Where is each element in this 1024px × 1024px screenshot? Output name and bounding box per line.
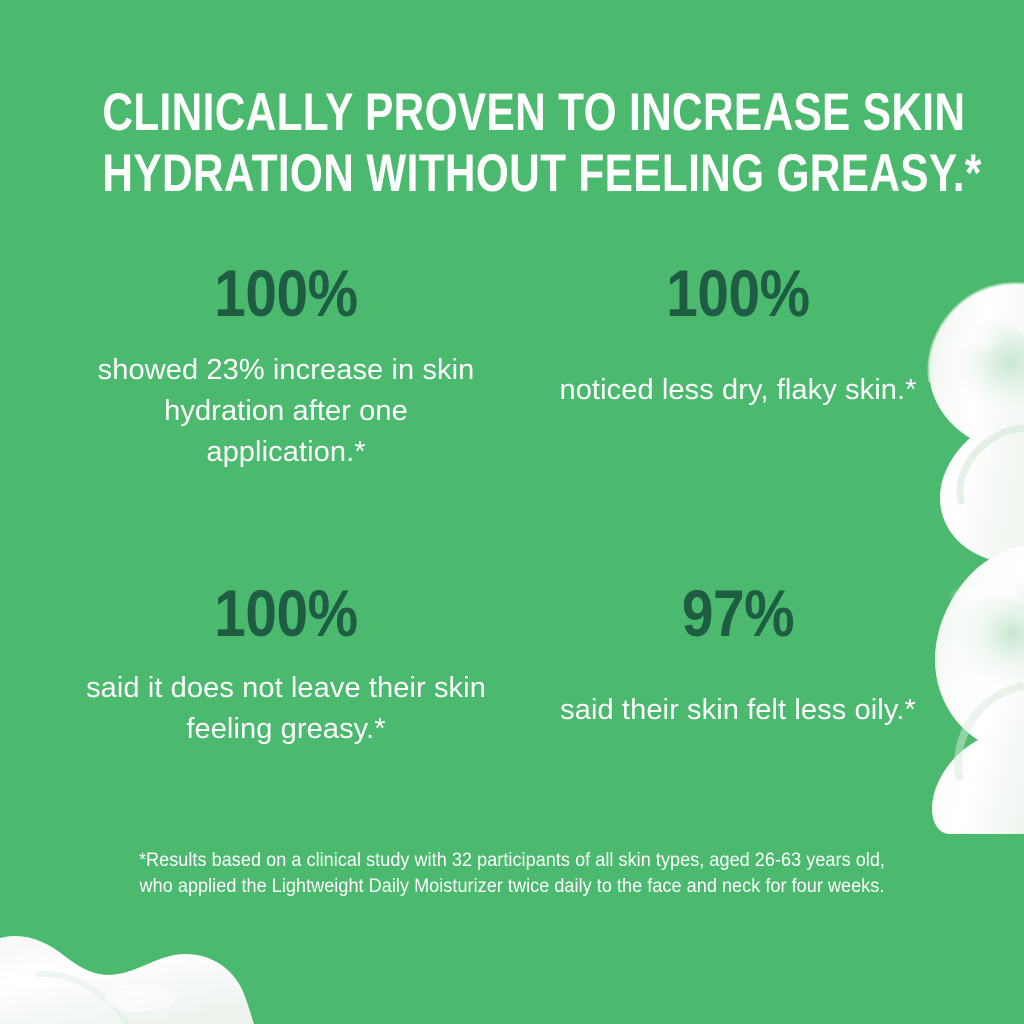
stat-percent: 97% <box>563 578 914 648</box>
cream-swirl-bottom-left-image <box>0 920 268 1024</box>
stat-description: said it does not leave their skin feelin… <box>82 668 490 750</box>
stat-block-less-dry-flaky: 100% noticed less dry, flaky skin.* <box>512 250 964 530</box>
stat-percent: 100% <box>563 258 914 328</box>
headline-line-2: HYDRATION WITHOUT FEELING GREASY.* <box>102 143 921 204</box>
stat-description: showed 23% increase in skin hydration af… <box>82 350 490 473</box>
stat-block-less-oily: 97% said their skin felt less oily.* <box>512 530 964 810</box>
stat-block-hydration-increase: 100% showed 23% increase in skin hydrati… <box>60 250 512 530</box>
disclaimer-text: *Results based on a clinical study with … <box>132 848 892 900</box>
promo-poster: CLINICALLY PROVEN TO INCREASE SKIN HYDRA… <box>0 0 1024 1024</box>
stat-description: noticed less dry, flaky skin.* <box>534 370 942 411</box>
stat-percent: 100% <box>111 578 462 648</box>
stat-percent: 100% <box>111 258 462 328</box>
stat-description: said their skin felt less oily.* <box>534 690 942 731</box>
page-title: CLINICALLY PROVEN TO INCREASE SKIN HYDRA… <box>102 82 921 204</box>
stat-block-not-greasy: 100% said it does not leave their skin f… <box>60 530 512 810</box>
headline-line-1: CLINICALLY PROVEN TO INCREASE SKIN <box>102 82 921 143</box>
stats-grid: 100% showed 23% increase in skin hydrati… <box>60 250 964 810</box>
